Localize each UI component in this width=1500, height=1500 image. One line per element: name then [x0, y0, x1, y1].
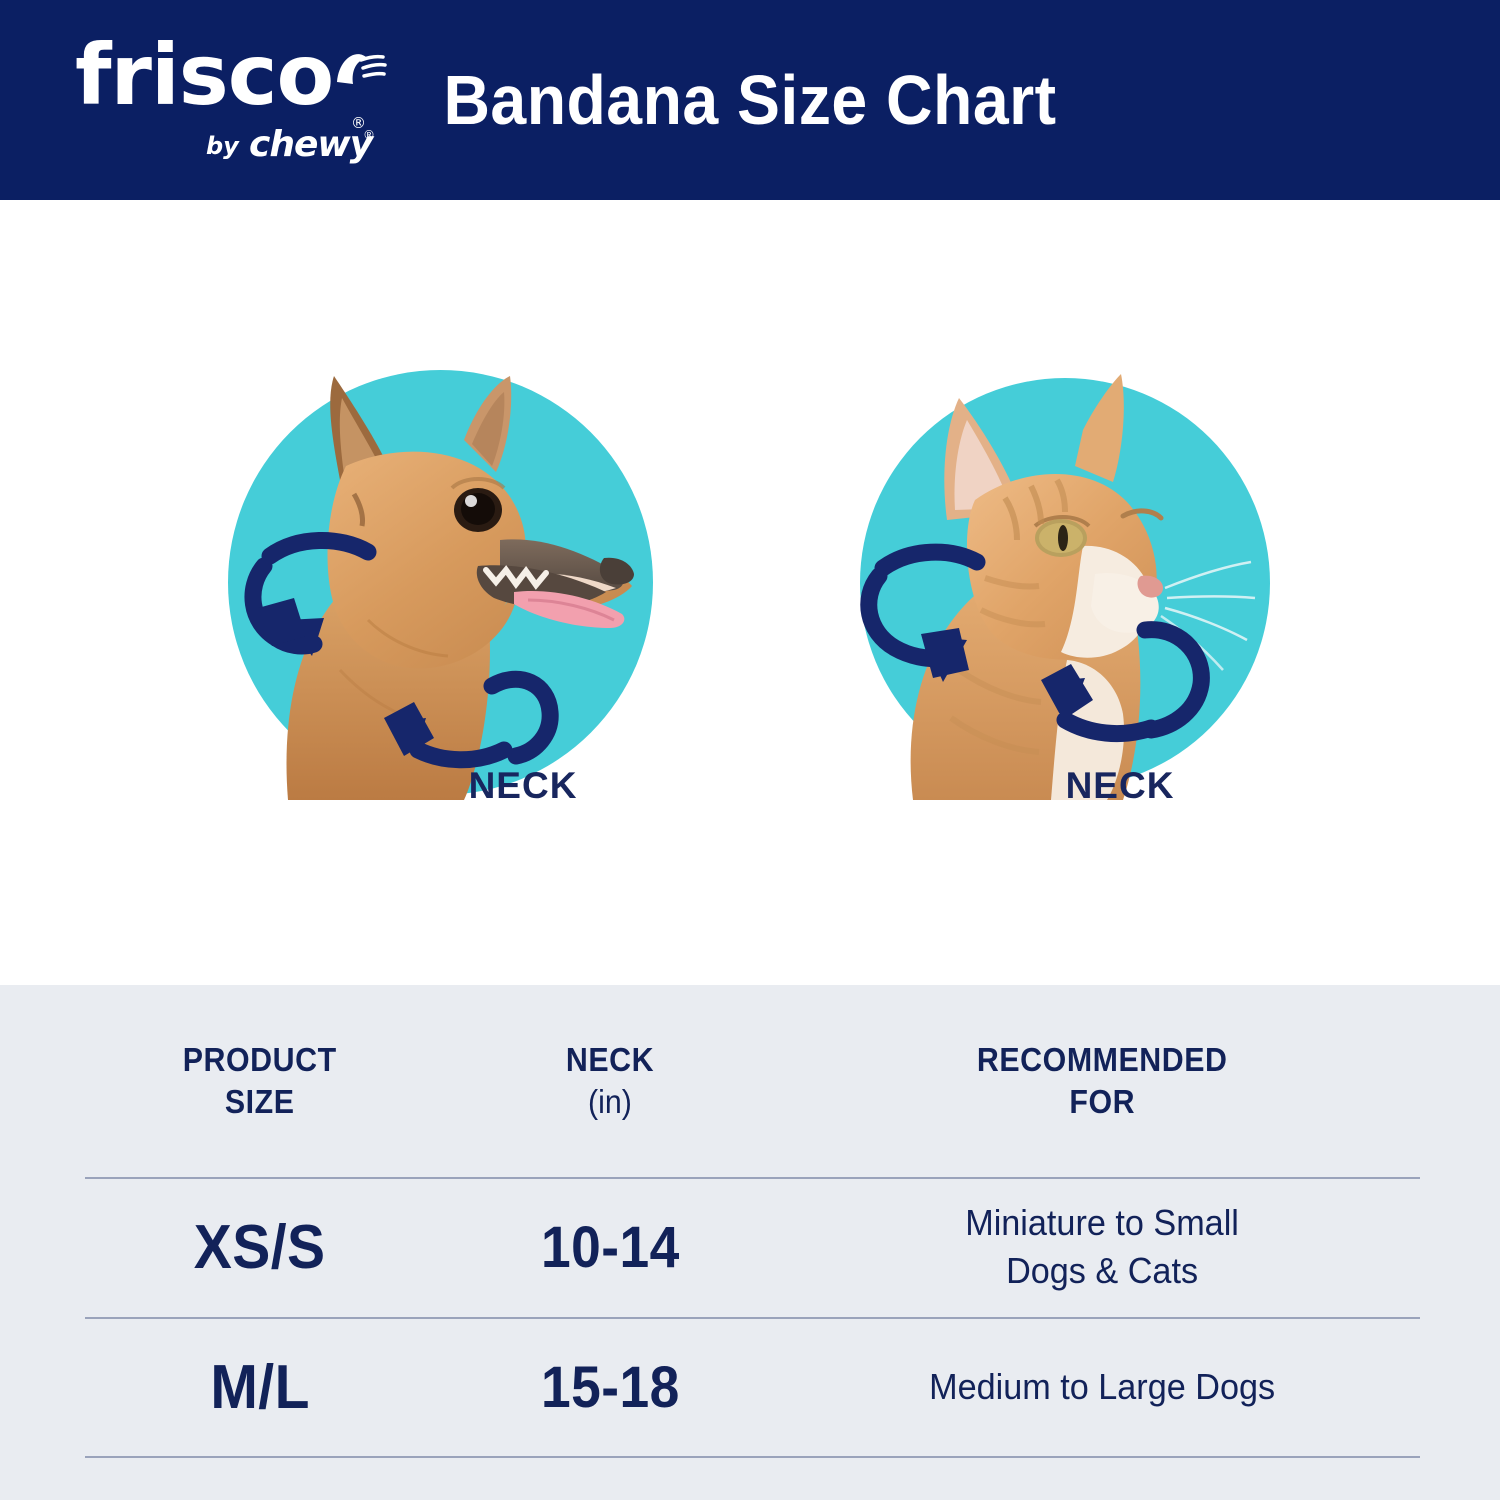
header-neck-line1: NECK [566, 1039, 654, 1081]
row-0-neck-cell: 10-14 [435, 1214, 785, 1281]
chewy-wordmark: chewy [249, 124, 372, 165]
header-product-size-line1: PRODUCT [183, 1039, 337, 1081]
header-cell-recommended-for: RECOMMENDED FOR [785, 1039, 1420, 1123]
frisco-by-chewy-logo: frisco ® by chewy ® [75, 36, 375, 166]
header-cell-product-size: PRODUCT SIZE [85, 1039, 435, 1123]
row-0-recommended-line2: Dogs & Cats [966, 1247, 1240, 1295]
cat-neck-label: NECK [905, 765, 1335, 807]
table-divider [85, 1177, 1420, 1179]
size-table: PRODUCT SIZE NECK (in) RECOMMENDED FOR X… [85, 985, 1420, 1457]
row-0-recommended-cell: Miniature to Small Dogs & Cats [785, 1199, 1420, 1295]
row-1-size-cell: M/L [85, 1352, 435, 1423]
logo-by-text: by [206, 132, 239, 160]
table-divider [85, 1317, 1420, 1319]
table-header-row: PRODUCT SIZE NECK (in) RECOMMENDED FOR [85, 985, 1420, 1177]
header-cell-neck: NECK (in) [435, 1039, 785, 1123]
frisco-wordmark: frisco [75, 30, 333, 120]
header-recommended-line2: FOR [977, 1081, 1228, 1123]
dog-head-photo [228, 370, 658, 800]
row-1-size: M/L [210, 1352, 310, 1423]
dog-measurement-illustration: NECK [228, 370, 658, 860]
chewy-registered-icon: ® [363, 128, 375, 142]
row-0-neck: 10-14 [541, 1214, 680, 1281]
cat-head-photo [855, 370, 1285, 800]
row-0-recommended-line1: Miniature to Small [966, 1199, 1240, 1247]
header-recommended-line1: RECOMMENDED [977, 1039, 1228, 1081]
page-header: frisco ® by chewy ® Bandana Size Chart [0, 0, 1500, 200]
row-1-recommended-cell: Medium to Large Dogs [785, 1363, 1420, 1411]
row-0-size-cell: XS/S [85, 1212, 435, 1283]
illustration-band: NECK [0, 200, 1500, 985]
table-row: XS/S 10-14 Miniature to Small Dogs & Cat… [85, 1177, 1420, 1317]
frisco-tail-icon [327, 44, 387, 104]
header-product-size-line2: SIZE [183, 1081, 337, 1123]
row-1-recommended-line1: Medium to Large Dogs [930, 1363, 1276, 1411]
table-divider [85, 1456, 1420, 1458]
size-table-section: PRODUCT SIZE NECK (in) RECOMMENDED FOR X… [0, 985, 1500, 1500]
row-0-size: XS/S [194, 1212, 326, 1283]
table-row: M/L 15-18 Medium to Large Dogs [85, 1317, 1420, 1457]
row-1-neck-cell: 15-18 [435, 1354, 785, 1421]
header-neck-unit: (in) [566, 1081, 654, 1123]
dog-neck-label: NECK [308, 765, 738, 807]
row-1-neck: 15-18 [541, 1354, 680, 1421]
cat-measurement-illustration: NECK [855, 370, 1285, 860]
